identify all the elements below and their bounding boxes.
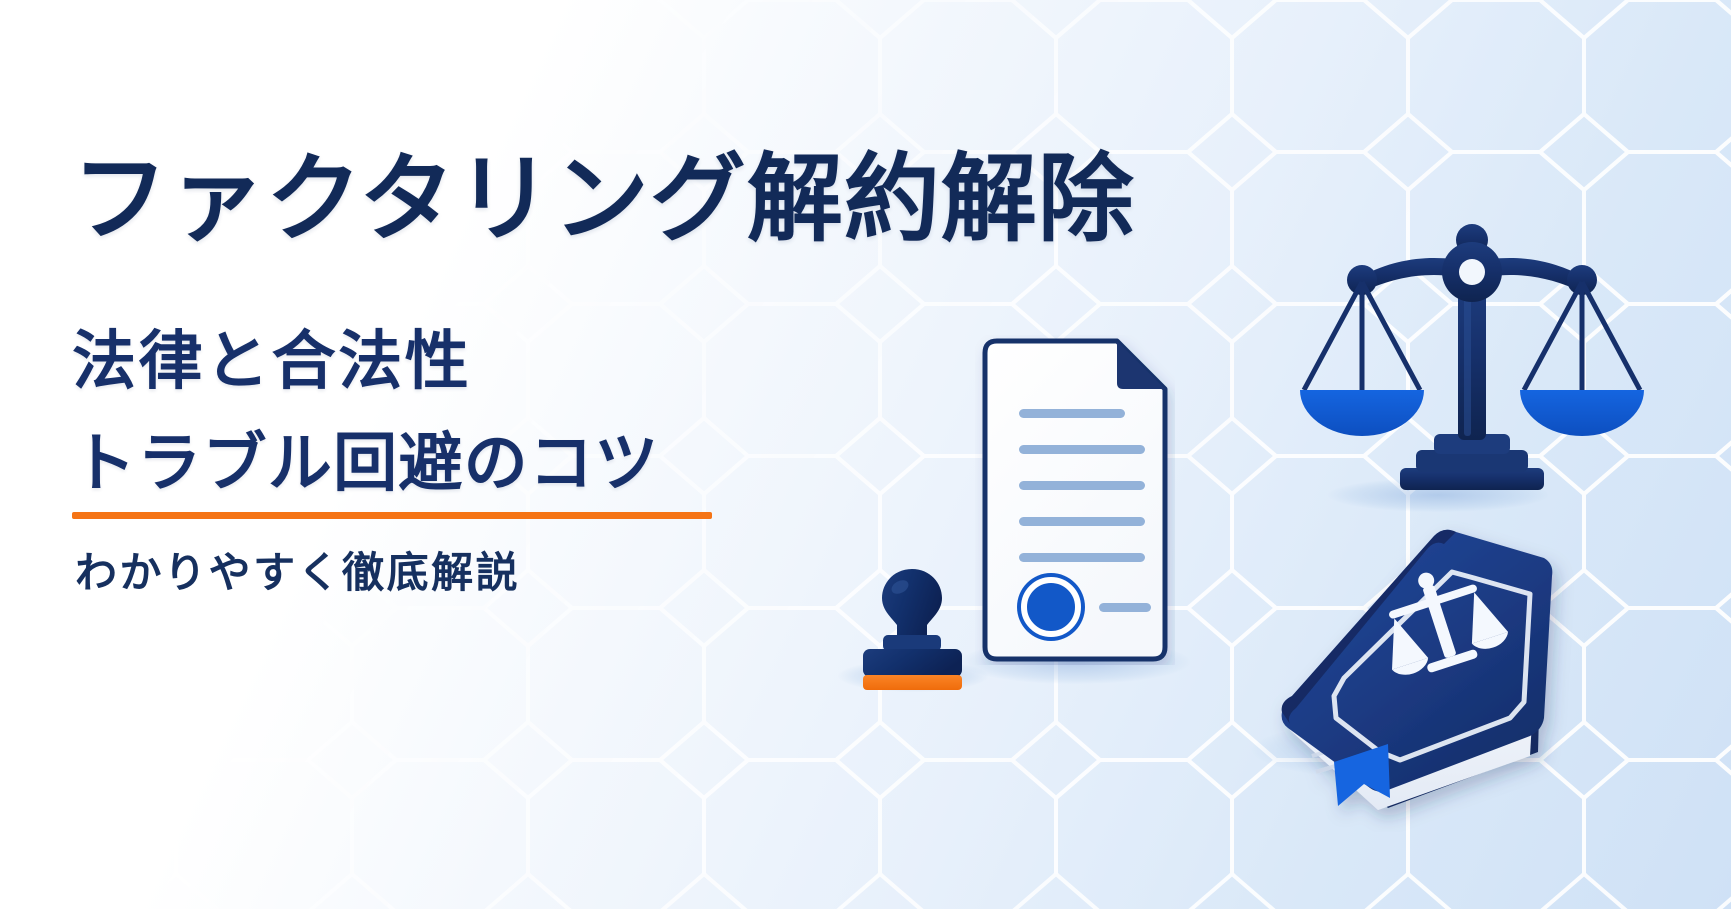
tagline: わかりやすく徹底解説 (75, 553, 520, 595)
headline-group: ファクタリング解約解除 法律と合法性 トラブル回避のコツ わかりやすく徹底解説 (0, 0, 820, 909)
scales-of-justice-icon (1292, 222, 1652, 502)
contract-document-icon (975, 335, 1175, 665)
subtitle-line-1: 法律と合法性 (72, 330, 471, 394)
document-seal-icon (1017, 573, 1085, 641)
orange-underline (72, 512, 712, 519)
subtitle-line-2: トラブル回避のコツ (72, 432, 660, 496)
page-title: ファクタリング解約解除 (72, 152, 1135, 248)
rubber-stamp-icon (845, 565, 980, 695)
hero-banner: ファクタリング解約解除 法律と合法性 トラブル回避のコツ わかりやすく徹底解説 (0, 0, 1731, 909)
law-book-icon (1238, 512, 1578, 832)
